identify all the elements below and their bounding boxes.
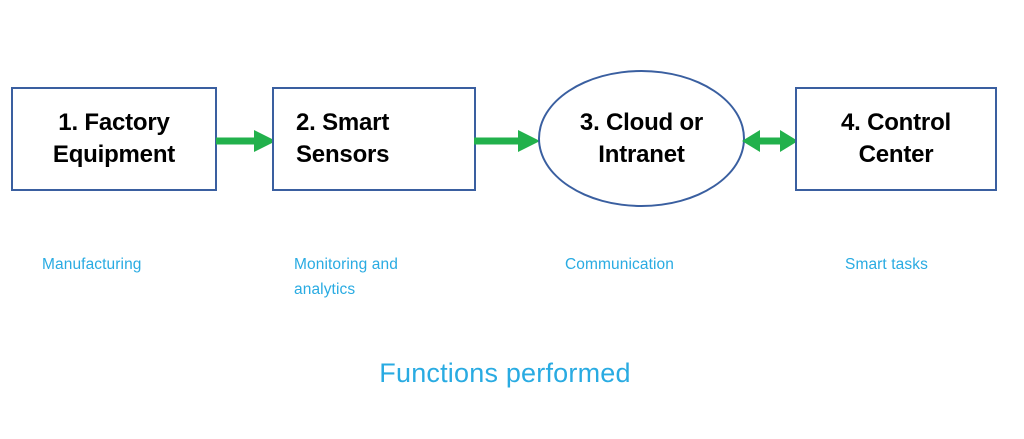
arrow-right-icon [474,126,540,156]
arrow-right-icon [216,126,276,156]
node-cloud-or-intranet[interactable]: 3. Cloud or Intranet [538,70,745,207]
node-factory-equipment[interactable]: 1. Factory Equipment [11,87,217,191]
caption-communication: Communication [565,252,785,277]
node-control-center-label: 4. Control Center [841,107,951,170]
node-factory-equipment-label: 1. Factory Equipment [53,107,175,170]
caption-manufacturing: Manufacturing [42,252,262,277]
arrow-cloud-to-control-center [742,126,798,156]
diagram-canvas: 1. Factory Equipment 2. Smart Sensors 3.… [0,0,1024,439]
node-smart-sensors[interactable]: 2. Smart Sensors [272,87,476,191]
arrow-sensors-to-cloud [474,126,540,156]
arrow-factory-to-sensors [216,126,276,156]
caption-smart-tasks: Smart tasks [845,252,1024,277]
node-cloud-or-intranet-label: 3. Cloud or Intranet [580,107,703,170]
node-smart-sensors-label: 2. Smart Sensors [296,107,389,170]
node-control-center[interactable]: 4. Control Center [795,87,997,191]
figure-title: Functions performed [0,358,1010,389]
caption-monitoring-and-analytics: Monitoring and analytics [294,252,484,302]
arrow-double-headed-icon [742,126,798,156]
